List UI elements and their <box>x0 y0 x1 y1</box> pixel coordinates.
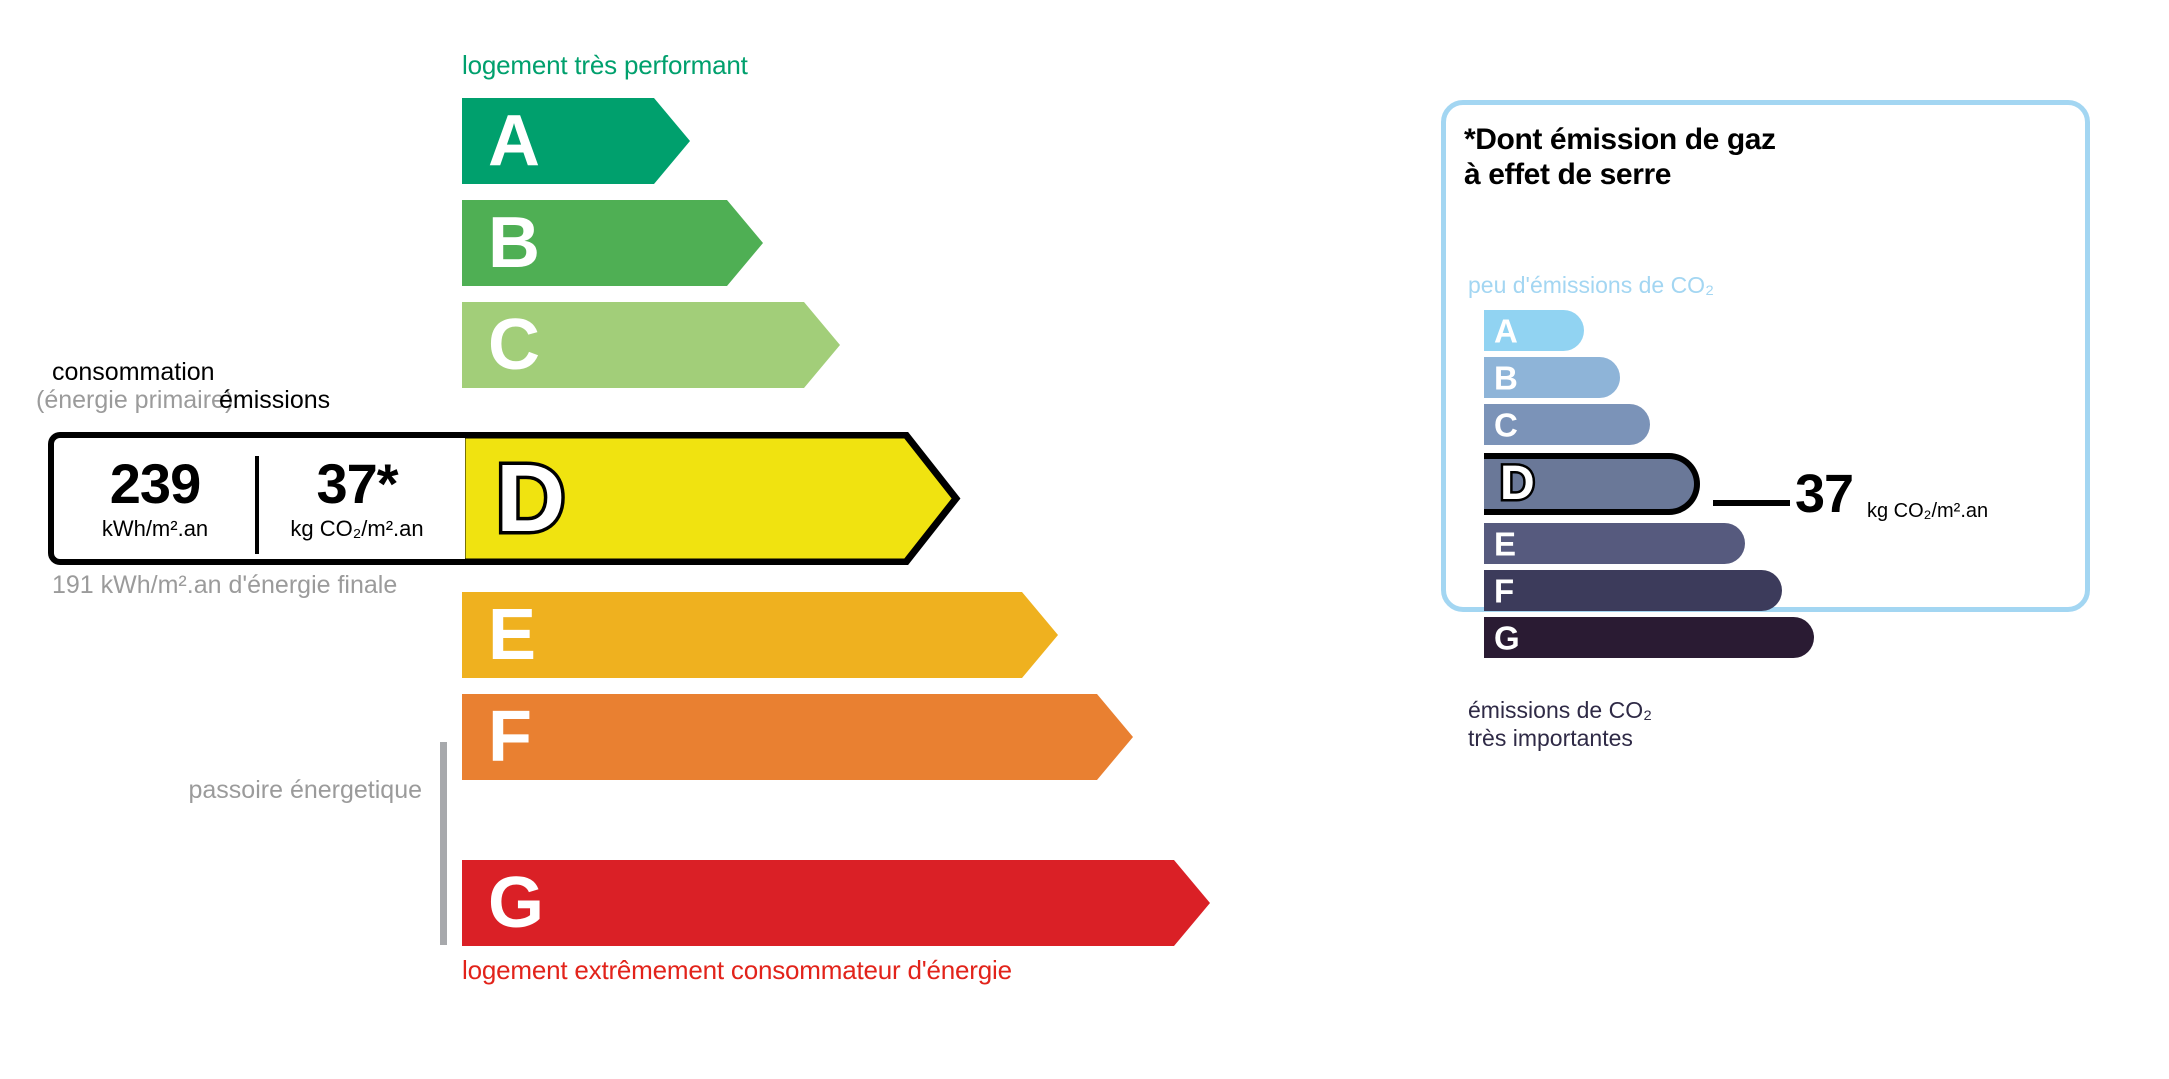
ges-grade-row-e[interactable]: E <box>1484 523 1745 564</box>
ges-grade-row-c[interactable]: C <box>1484 404 1650 445</box>
label-energie-finale: 191 kWh/m².an d'énergie finale <box>52 570 397 600</box>
ges-grade-row-b[interactable]: B <box>1484 357 1620 398</box>
passoire-indicator-bar <box>440 742 447 945</box>
label-consommation: consommation <box>52 358 215 387</box>
passoire-label: passoire énergetique <box>180 775 422 806</box>
energy-grade-arrow-e <box>462 592 1058 678</box>
ges-grade-letter-a: A <box>1494 314 1518 347</box>
ges-grade-letter-d: D <box>1500 460 1535 508</box>
scale-caption-very-consuming: logement extrêmement consommateur d'éner… <box>462 955 1012 986</box>
ges-value-unit: kg CO₂/m².an <box>1867 500 1988 523</box>
ges-grade-row-f[interactable]: F <box>1484 570 1782 611</box>
ges-grade-bar-g <box>1484 617 1814 658</box>
ges-panel-title: *Dont émission de gaz à effet de serre <box>1464 122 1776 192</box>
ges-grade-letter-g: G <box>1494 621 1520 654</box>
ges-caption-high-emissions: émissions de CO₂ très importantes <box>1468 697 1652 752</box>
ges-caption-low-emissions: peu d'émissions de CO₂ <box>1468 272 1714 299</box>
ges-grade-row-a[interactable]: A <box>1484 310 1584 351</box>
energy-grade-row-g[interactable]: G <box>462 860 1210 946</box>
energy-grade-arrow-g <box>462 860 1210 946</box>
measurement-box: 239 kWh/m².an 37* kg CO₂/m².an <box>48 432 465 565</box>
ges-grade-bar-f <box>1484 570 1782 611</box>
energy-grade-arrow-b <box>462 200 763 286</box>
ges-grade-letter-c: C <box>1494 408 1518 441</box>
consumption-cell: 239 kWh/m².an <box>60 438 250 559</box>
ges-grade-letter-e: E <box>1494 527 1516 560</box>
scale-caption-very-efficient: logement très performant <box>462 50 748 81</box>
energy-grade-row-f[interactable]: F <box>462 694 1133 780</box>
cell-divider <box>255 456 259 554</box>
ges-grade-row-g[interactable]: G <box>1484 617 1814 658</box>
emission-value: 37* <box>316 456 397 512</box>
energy-grade-arrow-c <box>462 302 840 388</box>
dpe-diagram: logement très performant A B C D <box>0 0 2169 1079</box>
emission-cell: 37* kg CO₂/m².an <box>262 438 452 559</box>
energy-grade-row-e[interactable]: E <box>462 592 1058 678</box>
energy-grade-row-a[interactable]: A <box>462 98 690 184</box>
energy-grade-row-c[interactable]: C <box>462 302 840 388</box>
consumption-unit: kWh/m².an <box>102 516 208 542</box>
energy-grade-row-d-selected[interactable]: D <box>462 432 962 565</box>
consumption-value: 239 <box>110 456 200 512</box>
ges-leader-line <box>1713 500 1790 506</box>
label-emissions: émissions <box>219 386 330 415</box>
ges-value: 37 <box>1795 467 1853 521</box>
energy-grade-arrow-d <box>462 432 962 565</box>
ges-grade-letter-b: B <box>1494 361 1518 394</box>
ges-grade-bar-e <box>1484 523 1745 564</box>
energy-grade-arrow-f <box>462 694 1133 780</box>
energy-consumption-scale: logement très performant A B C D <box>0 0 1400 1079</box>
energy-grade-arrow-a <box>462 98 690 184</box>
emission-unit: kg CO₂/m².an <box>290 516 423 542</box>
label-energie-primaire: (énergie primaire) <box>36 386 233 415</box>
energy-grade-row-b[interactable]: B <box>462 200 763 286</box>
ges-grade-row-d-selected[interactable]: D <box>1484 453 1700 515</box>
ges-grade-letter-f: F <box>1494 574 1514 607</box>
